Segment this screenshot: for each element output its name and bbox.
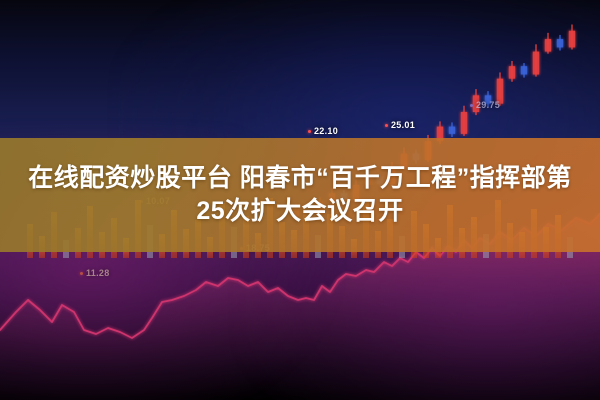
label-22-10: 22.10 — [308, 126, 338, 136]
candle-body — [557, 39, 563, 47]
price-marker-dot — [470, 104, 473, 107]
candle-body — [545, 39, 551, 52]
candle-body — [461, 112, 467, 134]
label-25-01: 25.01 — [385, 120, 415, 130]
price-marker-dot — [308, 130, 311, 133]
price-marker-dot — [80, 272, 83, 275]
price-label-text: 22.10 — [314, 126, 338, 136]
price-label-text: 29.75 — [476, 100, 500, 110]
headline-band: 在线配资炒股平台 阳春市“百千万工程”指挥部第 25次扩大会议召开 — [0, 138, 600, 252]
headline-line-1: 在线配资炒股平台 阳春市“百千万工程”指挥部第 — [28, 162, 571, 195]
candle-body — [521, 66, 527, 74]
candle-body — [533, 52, 539, 75]
candle-body — [569, 31, 575, 48]
candle-body — [449, 127, 455, 134]
label-29-75: 29.75 — [470, 100, 500, 110]
price-label-text: 11.28 — [86, 268, 110, 278]
headline-line-2: 25次扩大会议召开 — [196, 195, 403, 228]
label-11-28: 11.28 — [80, 268, 110, 278]
news-banner-image: 22.1025.0129.7510.0718.7511.28 在线配资炒股平台 … — [0, 0, 600, 400]
price-marker-dot — [385, 124, 388, 127]
price-label-text: 25.01 — [391, 120, 415, 130]
candle-body — [509, 66, 515, 79]
